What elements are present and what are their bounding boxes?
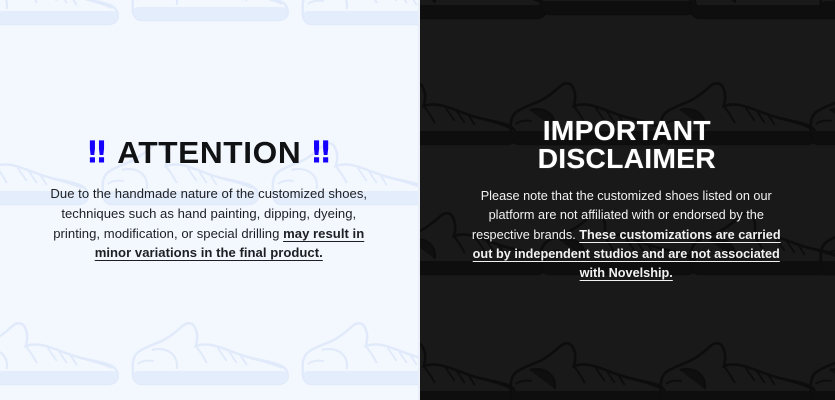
double-exclamation-icon-right: ‼: [312, 137, 330, 167]
promo-banner: ‼ ATTENTION ‼ Due to the handmade nature…: [0, 0, 835, 400]
double-exclamation-icon-left: ‼: [88, 137, 106, 167]
disclaimer-heading-line1: IMPORTANT: [542, 115, 710, 146]
disclaimer-body: Please note that the customized shoes li…: [461, 187, 791, 282]
disclaimer-heading: IMPORTANT DISCLAIMER: [442, 117, 810, 173]
disclaimer-panel: IMPORTANT DISCLAIMER Please note that th…: [418, 0, 835, 400]
attention-content: ‼ ATTENTION ‼ Due to the handmade nature…: [0, 137, 418, 264]
attention-panel: ‼ ATTENTION ‼ Due to the handmade nature…: [0, 0, 418, 400]
panel-divider: [418, 0, 420, 400]
attention-heading-word: ATTENTION: [117, 137, 301, 168]
disclaimer-content: IMPORTANT DISCLAIMER Please note that th…: [418, 117, 835, 282]
attention-heading: ‼ ATTENTION ‼: [30, 137, 388, 168]
attention-body: Due to the handmade nature of the custom…: [44, 184, 374, 264]
disclaimer-heading-line2: DISCLAIMER: [442, 145, 810, 173]
